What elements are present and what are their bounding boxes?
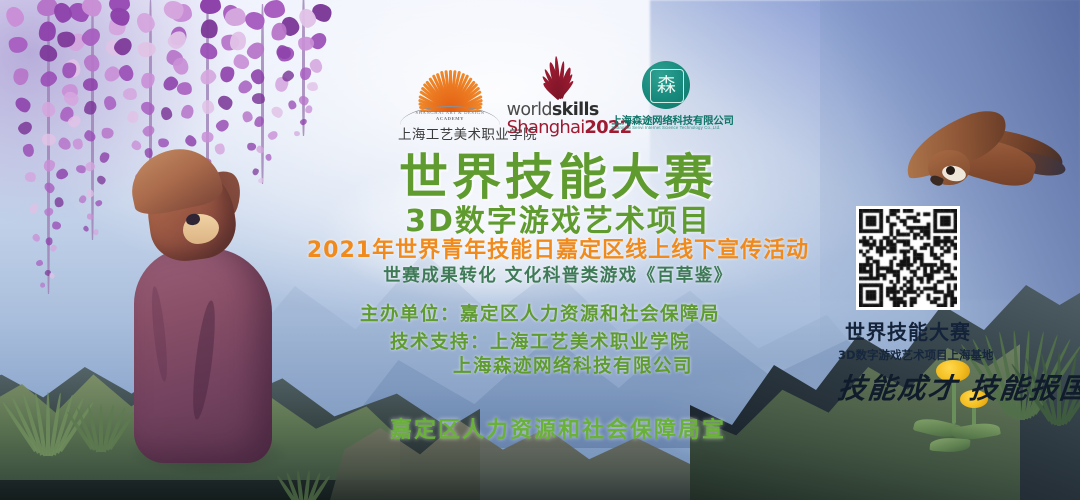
qr-block-subtitle: 3D数字游戏艺术项目上海基地 xyxy=(838,347,978,363)
academy-chinese-name: 上海工艺美术职业学院 xyxy=(398,123,502,143)
calligraphy-slogan: 技能成才 技能报国 xyxy=(836,367,980,407)
senvi-emblem-icon: 森 xyxy=(642,61,690,109)
academy-english-line1: SHANGHAI ART & DESIGN xyxy=(398,110,502,115)
qr-block-title: 世界技能大赛 xyxy=(838,316,978,345)
dandelion-leaf xyxy=(930,437,971,454)
qr-code[interactable] xyxy=(856,206,960,310)
senvi-english-name: Shanghai Senvi Internet Science Technolo… xyxy=(611,125,719,130)
worldskills-host-line: Shanghai2022 xyxy=(507,117,607,138)
worldskills-feather-icon xyxy=(531,60,587,100)
shanghai-art-design-academy-logo: SHANGHAI ART & DESIGN ACADEMY 上海工艺美术职业学院 xyxy=(398,66,501,140)
qr-info-block: 世界技能大赛 3D数字游戏艺术项目上海基地 技能成才 技能报国 xyxy=(838,206,978,407)
worldskills-shanghai-2022-logo: worldskills Shanghai2022 xyxy=(507,62,606,140)
worldskills-city: Shanghai xyxy=(507,117,585,138)
shanghai-senvi-logo: 森 上海森途网络科技有限公司 Shanghai Senvi Internet S… xyxy=(611,62,718,140)
senvi-emblem-glyph: 森 xyxy=(655,72,677,98)
poster-canvas: SHANGHAI ART & DESIGN ACADEMY 上海工艺美术职业学院… xyxy=(0,0,1080,500)
logo-row: SHANGHAI ART & DESIGN ACADEMY 上海工艺美术职业学院… xyxy=(398,62,718,140)
academy-english-line2: ACADEMY xyxy=(398,116,502,121)
